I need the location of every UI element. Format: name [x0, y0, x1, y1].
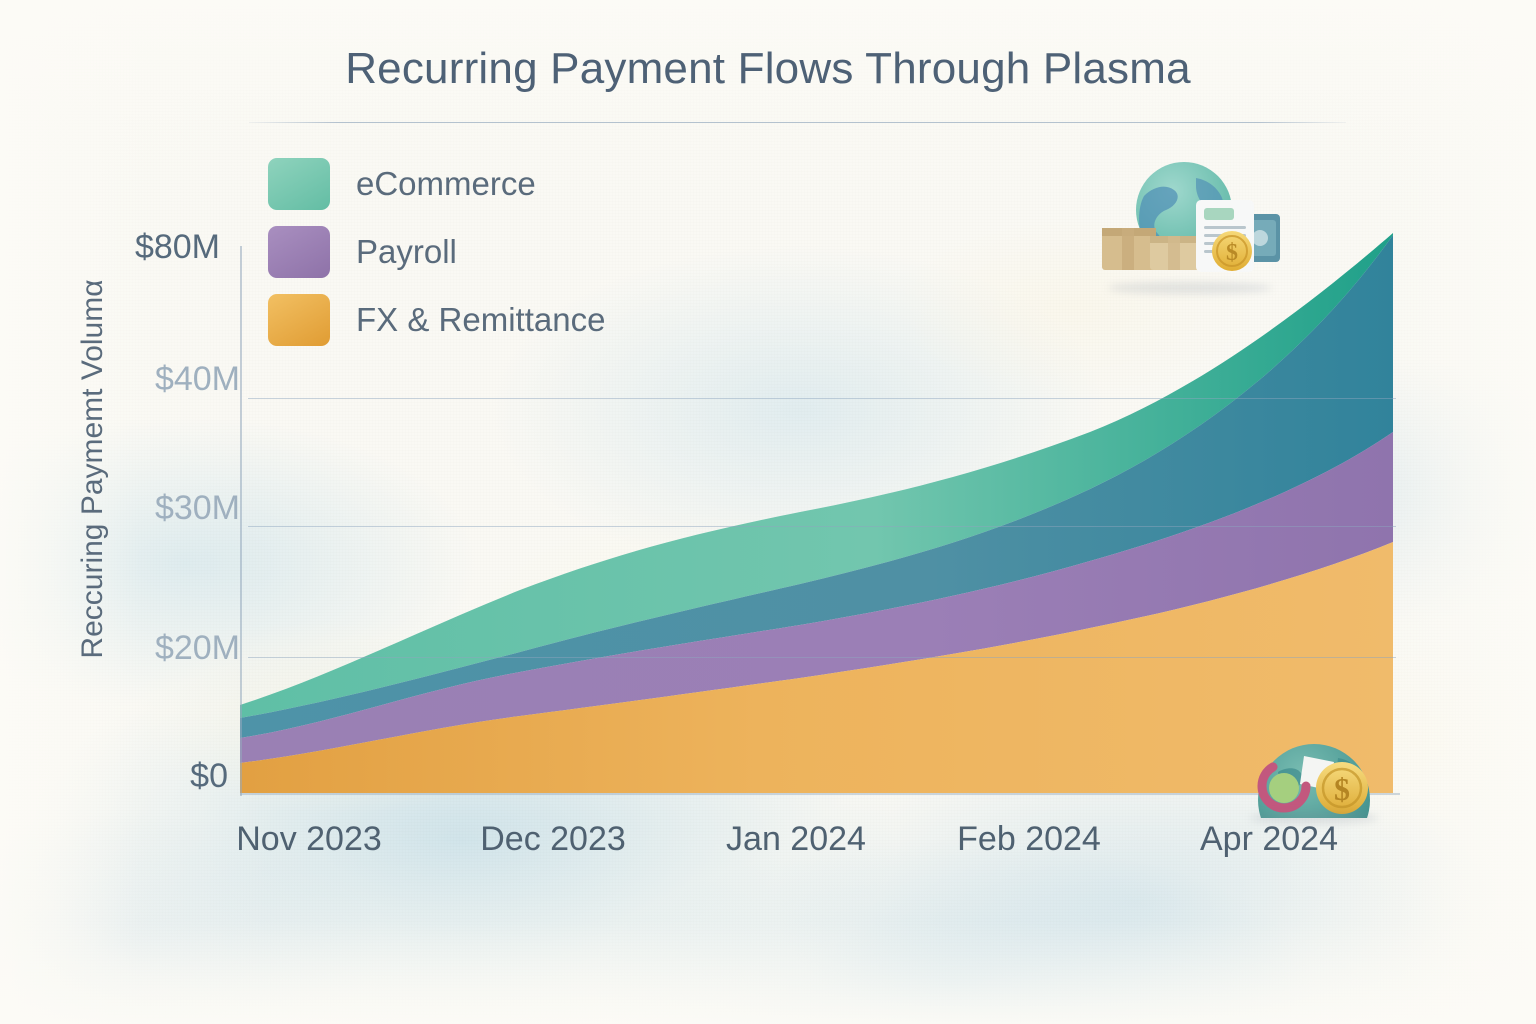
legend-swatch-payroll [268, 226, 330, 278]
y-tick-0: $0 [60, 757, 228, 796]
x-tick-dec-2023: Dec 2023 [480, 820, 626, 859]
globe-boxes-invoice-icon: $ [1092, 152, 1288, 288]
x-tick-nov-2023: Nov 2023 [236, 820, 382, 859]
gridline-30m [248, 526, 1396, 527]
y-axis-title: Reccuring Paymemt Volumα [76, 254, 110, 684]
chart-legend: eCommerce Payroll FX & Remittance [268, 150, 605, 354]
x-tick-jan-2024: Jan 2024 [726, 820, 866, 859]
x-axis-line [240, 793, 1400, 795]
y-tick-80m: $80M [40, 228, 220, 267]
legend-swatch-ecommerce [268, 158, 330, 210]
legend-label-fx-remittance: FX & Remittance [356, 301, 605, 339]
y-axis-line [240, 246, 242, 796]
globe-recurring-coin-icon: $ [1238, 722, 1390, 818]
gridline-40m [248, 398, 1396, 399]
icon-shadow-commerce [1108, 282, 1273, 294]
legend-item-ecommerce[interactable]: eCommerce [268, 150, 605, 218]
gridline-20m [248, 657, 1396, 658]
chart-canvas: Recurring Payment Flows Through Plasma [0, 0, 1536, 1024]
legend-label-payroll: Payroll [356, 233, 457, 271]
icon-shadow-recurring [1250, 812, 1378, 824]
x-tick-apr-2024: Apr 2024 [1200, 820, 1338, 859]
legend-swatch-fx [268, 294, 330, 346]
legend-label-ecommerce: eCommerce [356, 165, 536, 203]
svg-text:$: $ [1334, 771, 1350, 807]
x-tick-feb-2024: Feb 2024 [957, 820, 1101, 859]
legend-item-fx-remittance[interactable]: FX & Remittance [268, 286, 605, 354]
svg-text:$: $ [1226, 240, 1238, 266]
legend-item-payroll[interactable]: Payroll [268, 218, 605, 286]
